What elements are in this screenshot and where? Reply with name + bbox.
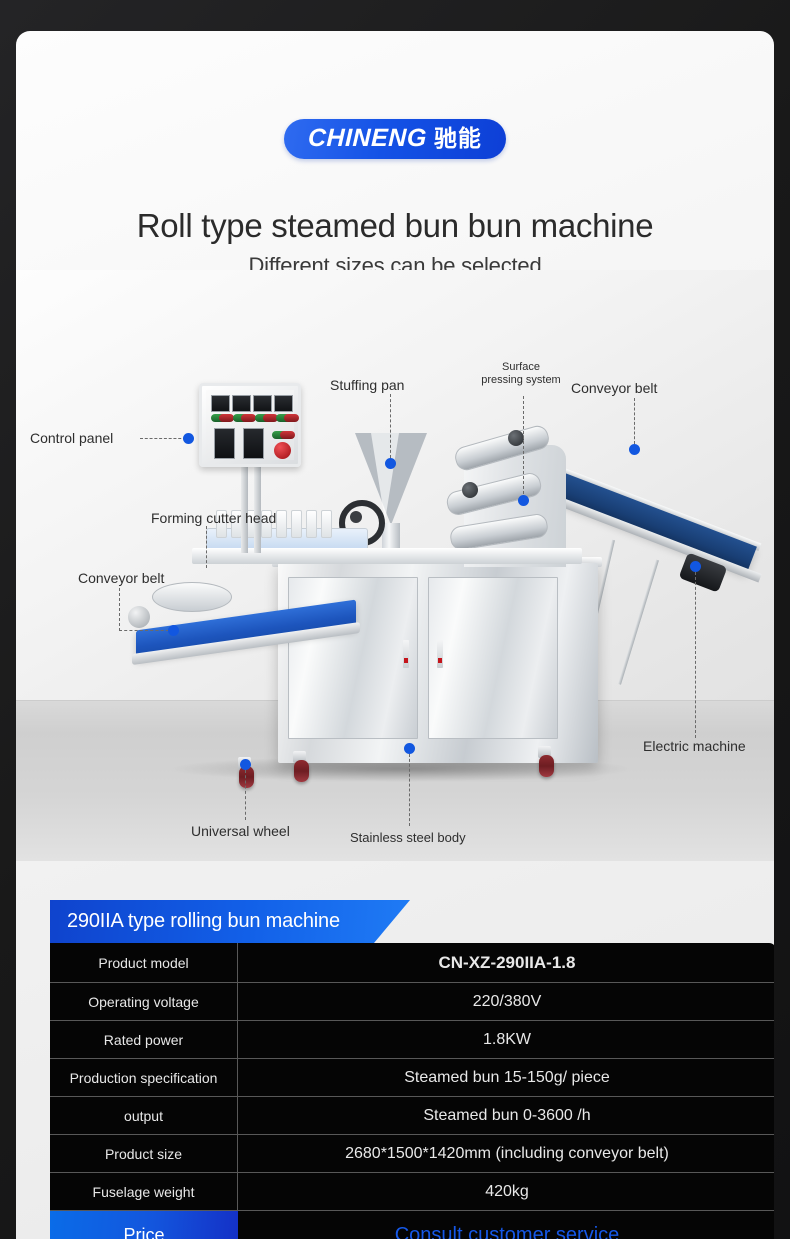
table-row: Production specification Steamed bun 15-… — [50, 1059, 774, 1097]
callout-leader — [140, 438, 186, 439]
conveyor-support-leg — [618, 560, 659, 685]
callout-label-universal-wheel: Universal wheel — [191, 823, 290, 839]
control-panel-face — [206, 390, 294, 460]
door-latch-icon — [403, 640, 409, 668]
door-latch-icon — [437, 640, 443, 668]
table-row: Product size 2680*1500*1420mm (including… — [50, 1135, 774, 1173]
stop-button-red[interactable] — [219, 414, 234, 422]
table-row-price: Price Consult customer service — [50, 1211, 774, 1239]
callout-label-line2: pressing system — [478, 374, 564, 387]
spec-value: 1.8KW — [238, 1021, 774, 1058]
spec-banner-title: 290IIA type rolling bun machine — [50, 910, 340, 933]
callout-marker-stuffing-pan — [385, 458, 396, 469]
consult-customer-service-link[interactable]: Consult customer service — [238, 1211, 774, 1239]
spec-value: CN-XZ-290IIA-1.8 — [238, 943, 774, 982]
spec-key: Fuselage weight — [50, 1173, 238, 1210]
spec-key: Rated power — [50, 1021, 238, 1058]
callout-marker-surface-pressing-system — [518, 495, 529, 506]
display-meter — [232, 395, 251, 412]
cutter-pin — [291, 510, 302, 538]
callout-label-conveyor-belt-right: Conveyor belt — [571, 380, 657, 396]
speed-dial-display[interactable] — [214, 428, 235, 459]
spec-value: Steamed bun 15-150g/ piece — [238, 1059, 774, 1096]
callout-label-forming-cutter-head: Forming cutter head — [151, 510, 276, 526]
table-row: Operating voltage 220/380V — [50, 983, 774, 1021]
table-row: Product model CN-XZ-290IIA-1.8 — [50, 943, 774, 983]
spec-key: Operating voltage — [50, 983, 238, 1020]
callout-label-line1: Surface — [478, 361, 564, 374]
spec-key: Production specification — [50, 1059, 238, 1096]
cabinet-door-right — [428, 577, 558, 739]
cutter-pin — [306, 510, 317, 538]
spec-key: Product model — [50, 943, 238, 982]
display-meter — [274, 395, 293, 412]
universal-wheel — [294, 760, 309, 782]
callout-leader — [634, 398, 635, 444]
spec-key: Product size — [50, 1135, 238, 1172]
callout-leader — [695, 572, 696, 738]
callout-marker-conveyor-belt-right — [629, 444, 640, 455]
spec-key-price: Price — [50, 1211, 238, 1239]
brand-logo-chinese: 驰能 — [434, 127, 482, 150]
callout-leader — [119, 588, 174, 631]
callout-leader — [390, 394, 391, 458]
brand-logo: CHINENG 驰能 — [284, 119, 506, 159]
callout-label-stainless-steel-body: Stainless steel body — [350, 831, 466, 846]
callout-marker-stainless-steel-body — [404, 743, 415, 754]
callout-label-surface-pressing-system: Surface pressing system — [478, 361, 564, 386]
product-detail-page: CHINENG 驰能 Roll type steamed bun bun mac… — [0, 0, 790, 1239]
machine-photo: Control panel Forming cutter head Convey… — [16, 270, 774, 861]
callout-leader — [409, 754, 410, 826]
spec-key: output — [50, 1097, 238, 1134]
callout-leader — [206, 526, 207, 568]
display-meter — [211, 395, 230, 412]
spec-value: 220/380V — [238, 983, 774, 1020]
stop-button-red[interactable] — [241, 414, 256, 422]
callout-label-stuffing-pan: Stuffing pan — [330, 377, 404, 393]
cutter-pin — [276, 510, 287, 538]
table-row: Fuselage weight 420kg — [50, 1173, 774, 1211]
spec-value: 420kg — [238, 1173, 774, 1210]
aux-button-red[interactable] — [280, 431, 295, 439]
emergency-stop-button[interactable] — [274, 442, 291, 459]
callout-marker-conveyor-belt-left — [168, 625, 179, 636]
callout-label-electric-machine: Electric machine — [643, 738, 746, 754]
callout-leader — [523, 396, 524, 494]
callout-label-control-panel: Control panel — [30, 430, 113, 446]
callout-leader — [245, 770, 246, 820]
brand-logo-latin: CHINENG — [308, 126, 428, 151]
cutter-pin — [321, 510, 332, 538]
callout-marker-universal-wheel — [240, 759, 251, 770]
roller-knob-icon — [462, 482, 478, 498]
callout-label-conveyor-belt-left: Conveyor belt — [78, 570, 164, 586]
product-card: CHINENG 驰能 Roll type steamed bun bun mac… — [16, 31, 774, 1239]
table-row: output Steamed bun 0-3600 /h — [50, 1097, 774, 1135]
brand-logo-wrap: CHINENG 驰能 — [16, 119, 774, 159]
display-meter — [253, 395, 272, 412]
machine-deck — [192, 548, 582, 564]
stop-button-red[interactable] — [284, 414, 299, 422]
speed-dial-display[interactable] — [243, 428, 264, 459]
universal-wheel — [539, 755, 554, 777]
callout-marker-electric-machine — [690, 561, 701, 572]
spec-value: Steamed bun 0-3600 /h — [238, 1097, 774, 1134]
stainless-steel-body — [278, 563, 598, 763]
callout-marker-control-panel — [183, 433, 194, 444]
page-title: Roll type steamed bun bun machine — [16, 207, 774, 245]
spec-value: 2680*1500*1420mm (including conveyor bel… — [238, 1135, 774, 1172]
spec-table: Product model CN-XZ-290IIA-1.8 Operating… — [50, 943, 774, 1239]
roller-knob-icon — [508, 430, 524, 446]
handwheel-hub — [350, 511, 362, 523]
control-panel — [199, 383, 301, 467]
table-row: Rated power 1.8KW — [50, 1021, 774, 1059]
spec-banner: 290IIA type rolling bun machine — [50, 900, 410, 943]
